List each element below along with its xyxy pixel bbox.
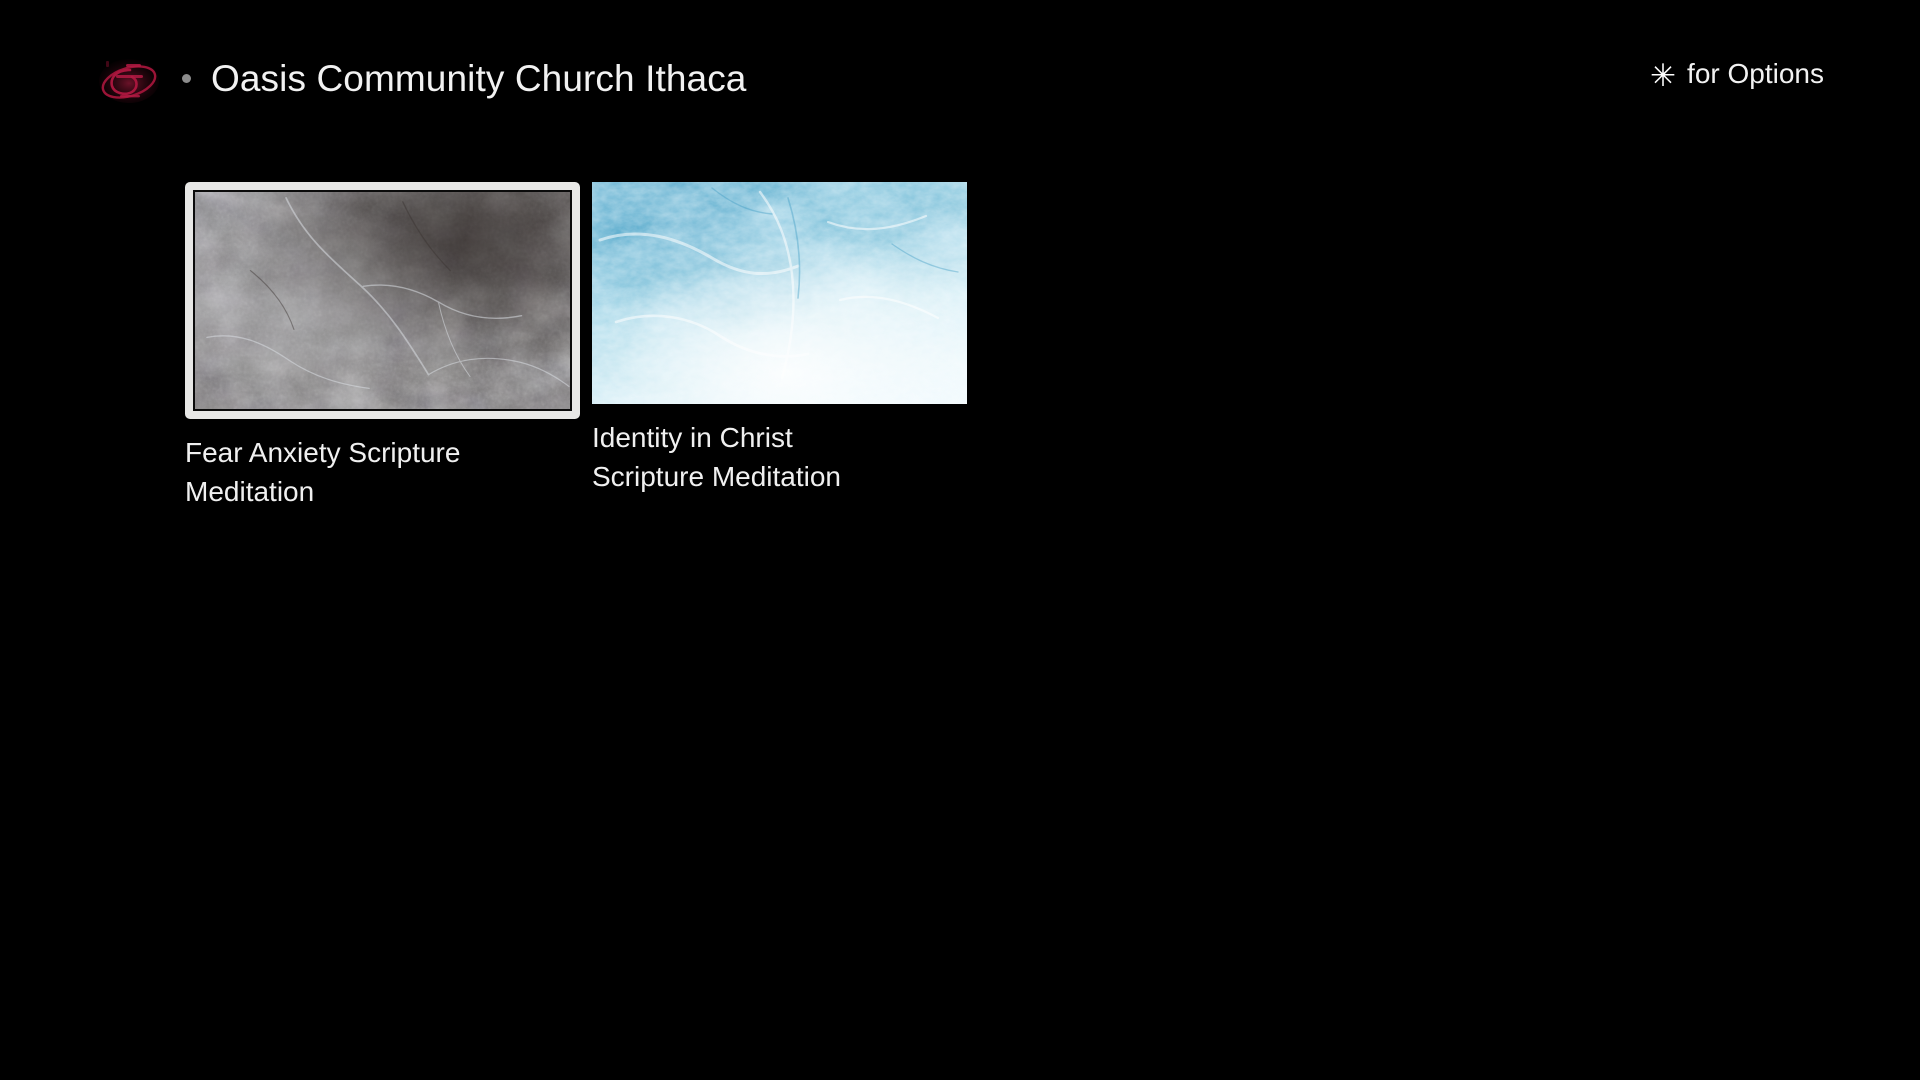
page-title: Oasis Community Church Ithaca [211, 60, 746, 97]
video-title-line-1: Fear Anxiety Scripture [185, 433, 485, 472]
video-grid: Fear Anxiety Scripture Meditation [185, 182, 999, 511]
header-bar: Oasis Community Church Ithaca ✳ for Opti… [0, 0, 1920, 150]
video-title-line-1: Identity in Christ [592, 418, 892, 457]
asterisk-icon: ✳ [1650, 60, 1676, 91]
brand-group: Oasis Community Church Ithaca [96, 48, 746, 108]
video-title: Fear Anxiety Scripture Meditation [185, 433, 485, 511]
video-title-line-2: Scripture Meditation [592, 457, 892, 496]
gray-stone-texture-icon [195, 192, 570, 409]
video-tile[interactable]: Identity in Christ Scripture Meditation [592, 182, 987, 496]
oasis-community-church-logo-icon [96, 50, 162, 106]
focus-frame [185, 182, 580, 419]
video-title-line-2: Meditation [185, 472, 485, 511]
options-hint-label: for Options [1687, 60, 1824, 88]
video-thumbnail[interactable] [193, 190, 572, 411]
brand-separator-dot [182, 74, 191, 83]
video-title: Identity in Christ Scripture Meditation [592, 418, 892, 496]
focus-frame [592, 182, 967, 404]
video-thumbnail[interactable] [592, 182, 967, 404]
app-screen: Oasis Community Church Ithaca ✳ for Opti… [0, 0, 1920, 1080]
options-hint[interactable]: ✳ for Options [1650, 58, 1824, 89]
blue-water-texture-icon [592, 182, 967, 404]
video-tile[interactable]: Fear Anxiety Scripture Meditation [185, 182, 580, 511]
